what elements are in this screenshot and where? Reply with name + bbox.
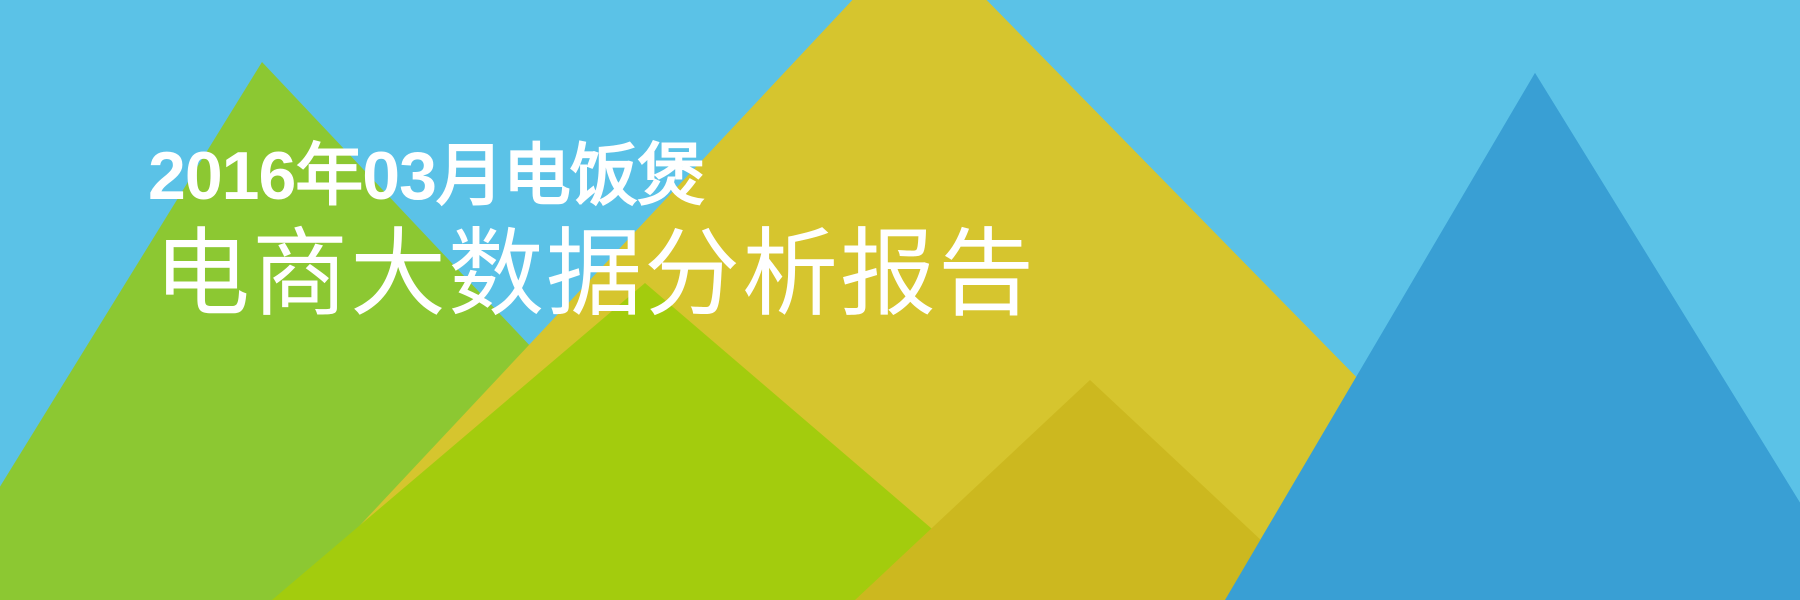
mountain-artwork	[0, 0, 1800, 600]
report-cover-banner: 2016年03月电饭煲 电商大数据分析报告	[0, 0, 1800, 600]
